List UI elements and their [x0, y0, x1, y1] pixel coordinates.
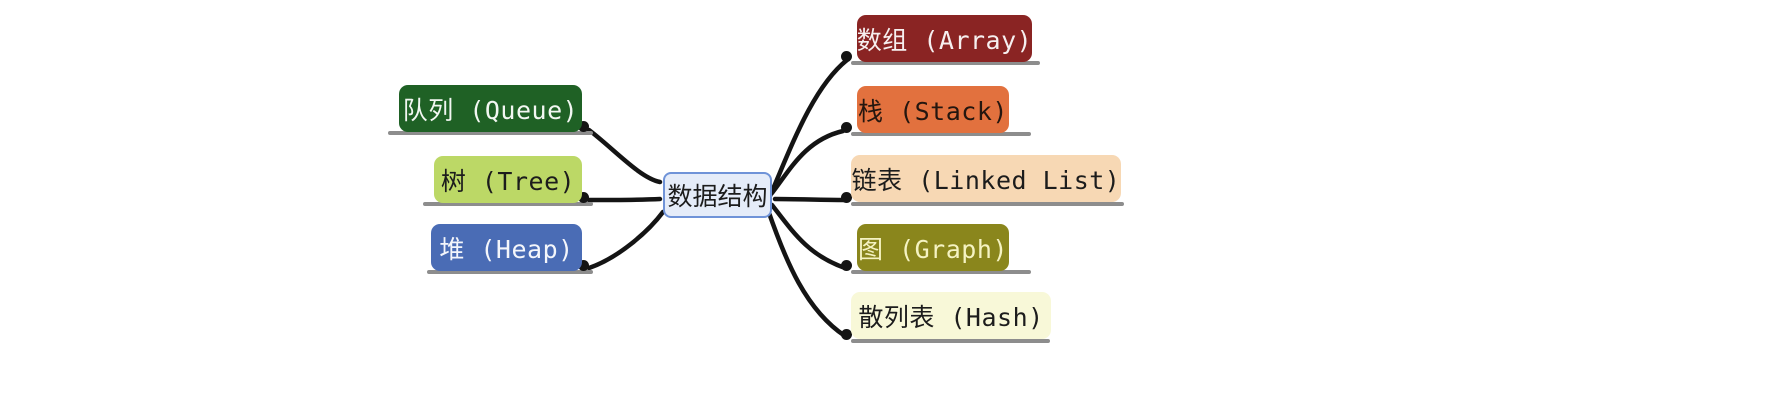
- branch-underline-linked-list: [851, 202, 1124, 206]
- node-label-linked-list: 链表 (Linked List): [852, 161, 1121, 197]
- node-label-graph: 图 (Graph): [858, 230, 1008, 266]
- edge-center-graph: [772, 205, 845, 268]
- edge-center-queue: [589, 130, 660, 182]
- branch-connector-dot-stack: [841, 122, 852, 133]
- node-graph[interactable]: 图 (Graph): [857, 224, 1009, 271]
- node-tree[interactable]: 树 (Tree): [434, 156, 582, 203]
- center-node-data-structure[interactable]: 数据结构: [663, 172, 772, 218]
- branch-connector-dot-array: [841, 51, 852, 62]
- node-label-array: 数组 (Array): [857, 21, 1032, 57]
- edge-center-hash: [768, 210, 845, 336]
- node-queue[interactable]: 队列 (Queue): [399, 85, 582, 132]
- edge-center-array: [770, 60, 847, 196]
- node-label-hash: 散列表 (Hash): [858, 298, 1043, 334]
- edge-center-stack: [772, 131, 843, 193]
- node-linked-list[interactable]: 链表 (Linked List): [851, 155, 1121, 202]
- node-hash[interactable]: 散列表 (Hash): [851, 292, 1051, 339]
- node-label-tree: 树 (Tree): [441, 162, 575, 198]
- edge-center-tree: [589, 199, 660, 200]
- node-label-stack: 栈 (Stack): [858, 92, 1008, 128]
- node-array[interactable]: 数组 (Array): [857, 15, 1032, 62]
- node-heap[interactable]: 堆 (Heap): [431, 224, 582, 271]
- edge-center-linked: [775, 199, 845, 200]
- node-label-queue: 队列 (Queue): [403, 91, 578, 127]
- node-label-heap: 堆 (Heap): [439, 230, 573, 266]
- branch-connector-dot-graph: [841, 260, 852, 271]
- edge-center-heap: [589, 212, 663, 268]
- mindmap-canvas: 队列 (Queue)树 (Tree)堆 (Heap) 数组 (Array)栈 (…: [0, 0, 1792, 404]
- branch-underline-hash: [851, 339, 1050, 343]
- node-stack[interactable]: 栈 (Stack): [857, 86, 1009, 133]
